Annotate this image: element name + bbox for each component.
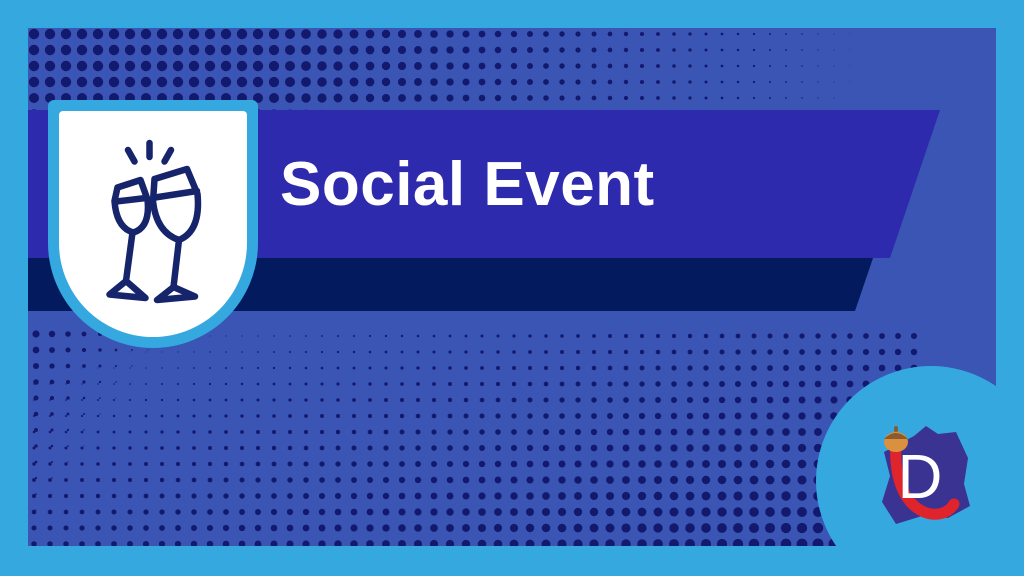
- cheers-glasses-icon: [87, 139, 219, 309]
- page-title: Social Event: [280, 135, 655, 233]
- bottom-left-halftone-dots: [28, 328, 328, 546]
- logo-letter: D: [898, 443, 943, 512]
- content-panel: Social Event D: [28, 28, 996, 546]
- slide-canvas: Social Event D: [0, 0, 1024, 576]
- badge-shield: [48, 100, 258, 348]
- badge-shield-inner: [59, 111, 247, 337]
- brand-d-logo[interactable]: D: [860, 414, 978, 532]
